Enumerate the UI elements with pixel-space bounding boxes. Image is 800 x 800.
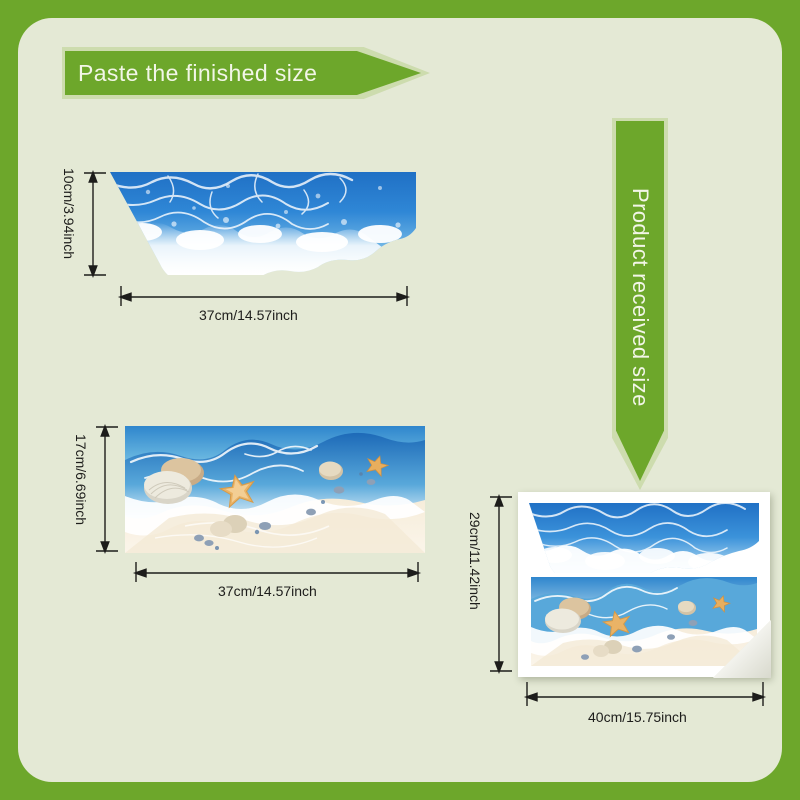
sheet-artwork (527, 501, 761, 668)
ocean-wave-decal (108, 170, 418, 275)
printed-sticker-sheet (518, 492, 770, 677)
dimension-label-wave-height: 10cm/3.94inch (61, 168, 77, 259)
dimension-line-sheet-height (486, 494, 512, 674)
dimension-line-wave-height (80, 170, 106, 278)
banner-received-label: Product received size (612, 132, 668, 462)
dimension-line-beach-height (92, 424, 118, 554)
banner-paste-finished-size: Paste the finished size (62, 47, 430, 99)
dimension-label-sheet-height: 29cm/11.42inch (467, 512, 483, 610)
dimension-label-wave-width: 37cm/14.57inch (199, 307, 298, 323)
dimension-label-sheet-width: 40cm/15.75inch (588, 709, 687, 725)
banner-paste-label: Paste the finished size (78, 47, 317, 99)
banner-product-received-size: Product received size (612, 118, 668, 490)
dimension-label-beach-width: 37cm/14.57inch (218, 583, 317, 599)
beach-shore-decal (125, 426, 425, 553)
infographic-canvas: Paste the finished size Product received… (0, 0, 800, 800)
dimension-label-beach-height: 17cm/6.69inch (73, 434, 89, 525)
